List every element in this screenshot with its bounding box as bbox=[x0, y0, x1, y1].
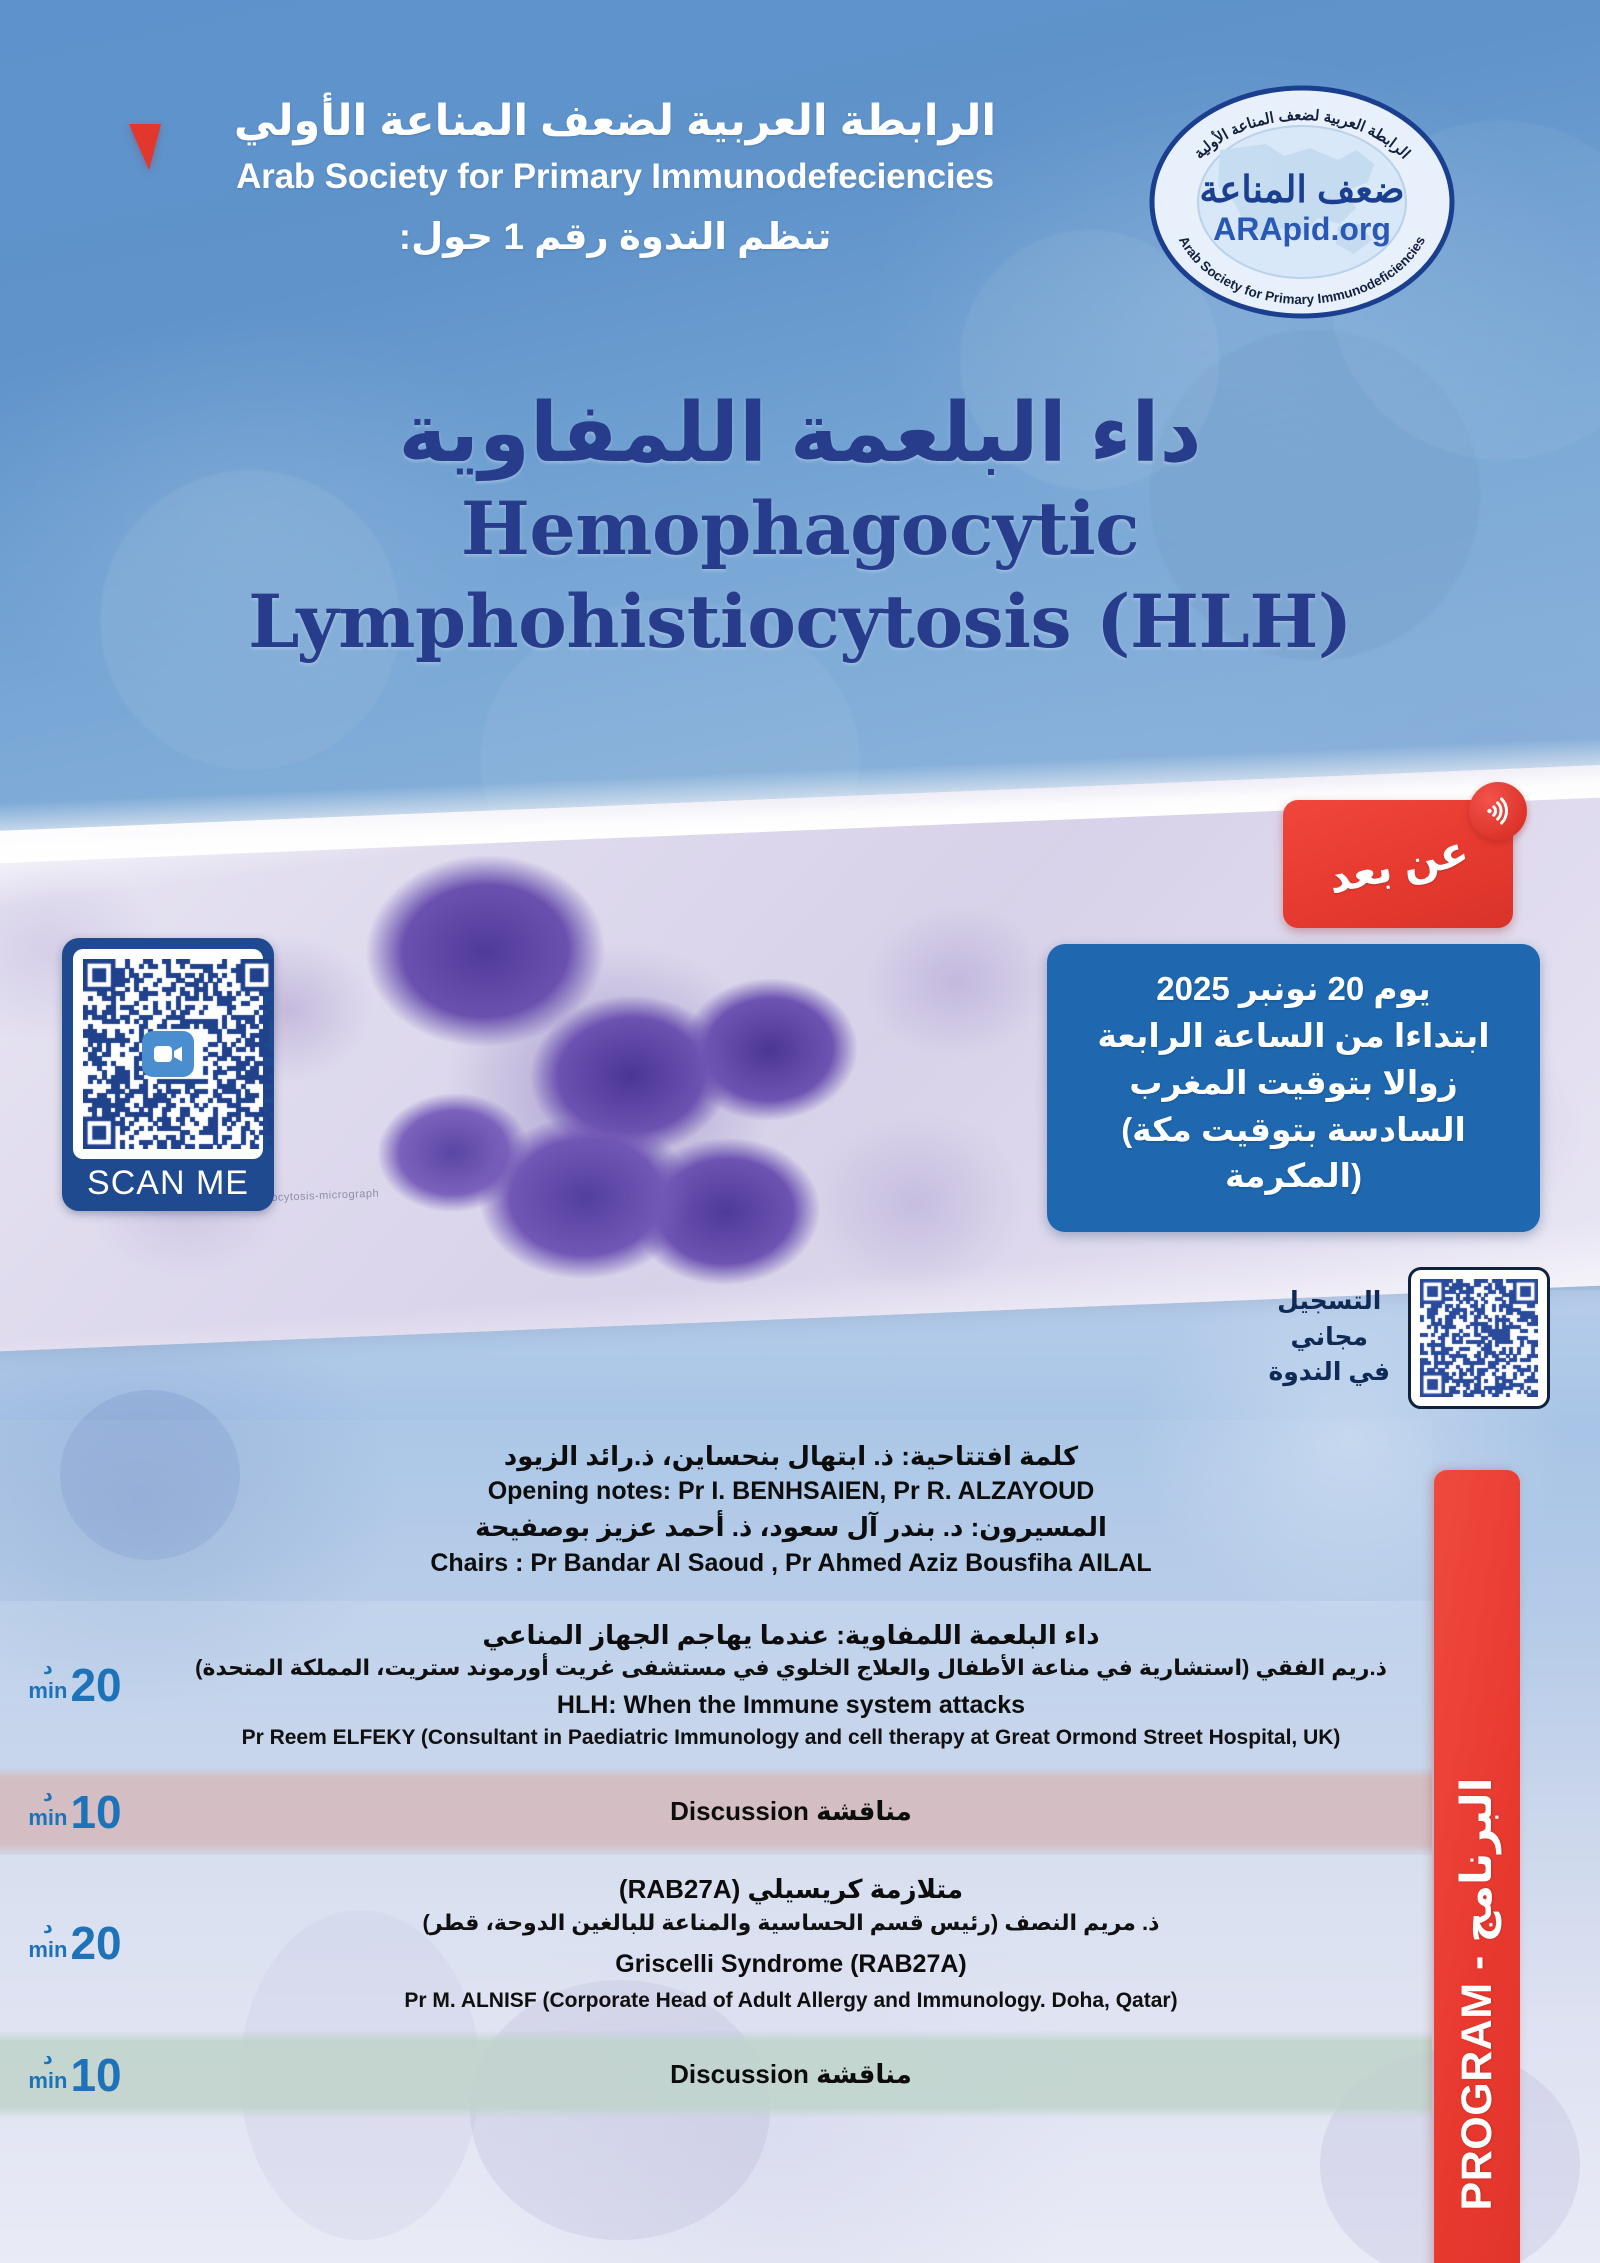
duration-number: 10 bbox=[70, 1791, 121, 1833]
program-schedule: كلمة افتتاحية: ذ. ابتهال بنحساين، ذ.رائد… bbox=[0, 1420, 1432, 2118]
society-tagline: تنظم الندوة رقم 1 حول: bbox=[120, 215, 1110, 259]
society-name-arabic: الرابطة العربية لضعف المناعة الأولي bbox=[120, 96, 1110, 147]
duration-number: 20 bbox=[70, 1922, 121, 1964]
scan-me-label: SCAN ME bbox=[73, 1159, 263, 1211]
logo-svg: الرابطة العربية لضعف المناعة الأولية Ara… bbox=[1142, 78, 1462, 326]
duration-badge: د min 10 bbox=[0, 1786, 150, 1837]
duration-number: 10 bbox=[70, 2054, 121, 2096]
poster-root: الرابطة العربية لضعف المناعة الأولي Arab… bbox=[0, 0, 1600, 2263]
duration-unit-arabic: د bbox=[43, 1918, 53, 1937]
event-datetime-box: يوم 20 نونبر 2025 ابتداءا من الساعة الرا… bbox=[1047, 944, 1540, 1232]
duration-unit-arabic: د bbox=[43, 1659, 53, 1678]
duration-number: 20 bbox=[70, 1664, 121, 1706]
duration-unit-min: min bbox=[28, 1939, 67, 1961]
registration-line-2: مجاني bbox=[1268, 1320, 1390, 1356]
table-row: د min 20 داء البلعمة اللمفاوية: عندما يه… bbox=[0, 1601, 1432, 1769]
talk-body: متلازمة كريسيلي (RAB27A) ذ. مريم النصف (… bbox=[150, 1871, 1432, 2015]
date-line-2: ابتداءا من الساعة الرابعة bbox=[1073, 1013, 1514, 1060]
opening-notes-english: Opening notes: Pr I. BENHSAIEN, Pr R. AL… bbox=[166, 1474, 1416, 1509]
title-english-line1: Hemophagocytic bbox=[60, 486, 1540, 574]
date-line-3: زوالا بتوقيت المغرب bbox=[1073, 1060, 1514, 1107]
registration-block: التسجيل مجاني في الندوة bbox=[1240, 1250, 1550, 1425]
duration-unit-arabic: د bbox=[43, 2049, 53, 2068]
date-line-4: السادسة بتوقيت مكة) bbox=[1073, 1107, 1514, 1154]
registration-qr-code[interactable] bbox=[1408, 1267, 1550, 1409]
society-name-english: Arab Society for Primary Immunodefecienc… bbox=[120, 154, 1110, 200]
talk-speaker-arabic: ذ. مريم النصف (رئيس قسم الحساسية والمناع… bbox=[166, 1908, 1416, 1939]
talk-body: داء البلعمة اللمفاوية: عندما يهاجم الجها… bbox=[150, 1617, 1432, 1753]
discussion-label: مناقشة Discussion bbox=[166, 2059, 1416, 2090]
talk-title-english: HLH: When the Immune system attacks bbox=[166, 1688, 1416, 1723]
poster-title: داء البلعمة اللمفاوية Hemophagocytic Lym… bbox=[60, 388, 1540, 667]
talk-speaker-arabic: ذ.ريم الفقي (استشارية في مناعة الأطفال و… bbox=[166, 1653, 1416, 1684]
broadcast-wifi-icon bbox=[1469, 782, 1527, 840]
arapid-logo: الرابطة العربية لضعف المناعة الأولية Ara… bbox=[1142, 78, 1462, 326]
discussion-body: مناقشة Discussion bbox=[150, 1796, 1432, 1827]
remote-badge-tail bbox=[129, 124, 161, 170]
society-header: الرابطة العربية لضعف المناعة الأولي Arab… bbox=[120, 96, 1110, 260]
talk-speaker-english: Pr M. ALNISF (Corporate Head of Adult Al… bbox=[166, 1986, 1416, 2015]
duration-unit-arabic: د bbox=[43, 1786, 53, 1805]
opening-notes-arabic: كلمة افتتاحية: ذ. ابتهال بنحساين، ذ.رائد… bbox=[166, 1438, 1416, 1474]
qr-code-icon[interactable] bbox=[1420, 1279, 1538, 1397]
table-row: د min 10 مناقشة Discussion bbox=[0, 2031, 1432, 2118]
duration-unit-min: min bbox=[28, 1680, 67, 1702]
registration-text: التسجيل مجاني في الندوة bbox=[1268, 1284, 1390, 1391]
duration-badge: د min 10 bbox=[0, 2049, 150, 2100]
date-line-5: (المكرمة bbox=[1073, 1153, 1514, 1200]
chairs-arabic: المسيرون: د. بندر آل سعود، ذ. أحمد عزيز … bbox=[166, 1509, 1416, 1545]
logo-center-url: ARApid.org bbox=[1213, 211, 1391, 247]
qr-code-image[interactable] bbox=[73, 949, 263, 1159]
talk-title-arabic: داء البلعمة اللمفاوية: عندما يهاجم الجها… bbox=[166, 1617, 1416, 1653]
program-tab-label: PROGRAM - البرنامج bbox=[1452, 1778, 1502, 2211]
program-side-tab: PROGRAM - البرنامج bbox=[1434, 1470, 1520, 2263]
title-english-line2: Lymphohistiocytosis (HLH) bbox=[60, 579, 1540, 667]
discussion-label: مناقشة Discussion bbox=[166, 1796, 1416, 1827]
talk-speaker-english: Pr Reem ELFEKY (Consultant in Paediatric… bbox=[166, 1723, 1416, 1752]
table-row: د min 20 متلازمة كريسيلي (RAB27A) ذ. مري… bbox=[0, 1855, 1432, 2031]
opening-body: كلمة افتتاحية: ذ. ابتهال بنحساين، ذ.رائد… bbox=[150, 1438, 1432, 1581]
duration-unit-min: min bbox=[28, 2070, 67, 2092]
talk-title-arabic: متلازمة كريسيلي (RAB27A) bbox=[166, 1871, 1416, 1907]
scan-me-qr-card[interactable]: SCAN ME bbox=[62, 938, 274, 1211]
table-row: د min 10 مناقشة Discussion bbox=[0, 1768, 1432, 1855]
talk-title-english: Griscelli Syndrome (RAB27A) bbox=[166, 1947, 1416, 1982]
discussion-body: مناقشة Discussion bbox=[150, 2059, 1432, 2090]
logo-center-arabic: ضعف المناعة bbox=[1199, 169, 1404, 210]
program-row-opening: كلمة افتتاحية: ذ. ابتهال بنحساين، ذ.رائد… bbox=[0, 1420, 1432, 1601]
date-line-1: يوم 20 نونبر 2025 bbox=[1073, 966, 1514, 1013]
duration-badge-empty bbox=[0, 1507, 150, 1511]
registration-line-1: التسجيل bbox=[1268, 1284, 1390, 1320]
duration-unit-min: min bbox=[28, 1807, 67, 1829]
duration-badge: د min 20 bbox=[0, 1918, 150, 1969]
duration-badge: د min 20 bbox=[0, 1659, 150, 1710]
zoom-video-camera-icon bbox=[142, 1031, 194, 1077]
title-arabic: داء البلعمة اللمفاوية bbox=[60, 388, 1540, 480]
registration-line-3: في الندوة bbox=[1268, 1355, 1390, 1391]
chairs-english: Chairs : Pr Bandar Al Saoud , Pr Ahmed A… bbox=[166, 1546, 1416, 1581]
